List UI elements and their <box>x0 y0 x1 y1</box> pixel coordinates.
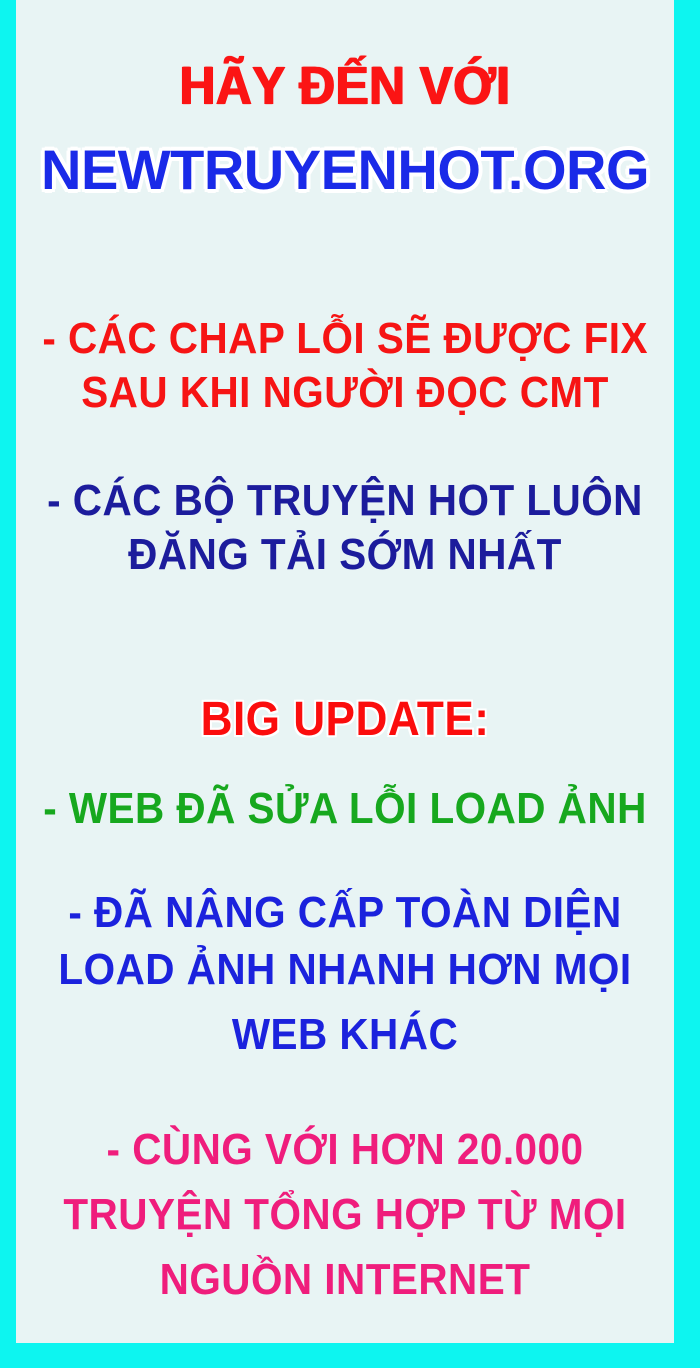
promo-poster: HÃY ĐẾN VỚI NEWTRUYENHOT.ORG - CÁC CHAP … <box>0 0 700 1368</box>
full-upgrade-line-3: WEB KHÁC <box>42 1012 647 1059</box>
big-update-heading: BIG UPDATE: <box>42 695 647 746</box>
catalog-size-line-1: - CÙNG VỚI HƠN 20.000 <box>42 1127 647 1174</box>
poster-panel: HÃY ĐẾN VỚI NEWTRUYENHOT.ORG - CÁC CHAP … <box>16 0 674 1343</box>
header-greeting: HÃY ĐẾN VỚI <box>42 58 647 115</box>
fix-notice-line-1: - CÁC CHAP LỖI SẼ ĐƯỢC FIX <box>42 316 647 363</box>
image-load-fix-line-1: - WEB ĐÃ SỬA LỖI LOAD ẢNH <box>42 786 647 833</box>
fix-notice-line-2: SAU KHI NGƯỜI ĐỌC CMT <box>42 370 647 417</box>
full-upgrade-line-1: - ĐÃ NÂNG CẤP TOÀN DIỆN <box>42 890 647 937</box>
hot-series-notice-line-1: - CÁC BỘ TRUYỆN HOT LUÔN <box>42 478 647 525</box>
catalog-size-line-3: NGUỒN INTERNET <box>42 1257 647 1304</box>
hot-series-notice-line-2: ĐĂNG TẢI SỚM NHẤT <box>42 532 647 579</box>
catalog-size-line-2: TRUYỆN TỔNG HỢP TỪ MỌI <box>42 1192 647 1239</box>
header-domain-link[interactable]: NEWTRUYENHOT.ORG <box>16 140 674 199</box>
full-upgrade-line-2: LOAD ẢNH NHANH HƠN MỌI <box>42 947 647 994</box>
